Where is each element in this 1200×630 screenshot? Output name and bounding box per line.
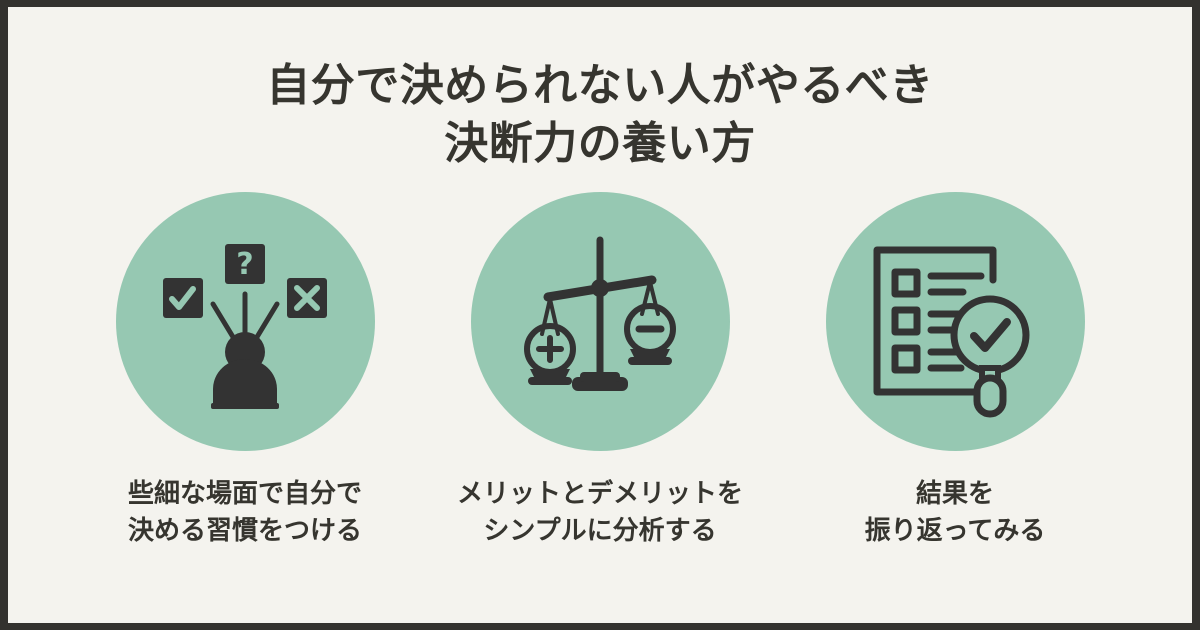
steps-row: ? (8, 192, 1192, 550)
step-3-caption-line-2: 振り返ってみる (865, 513, 1046, 550)
step-column-3: 結果を 振り返ってみる (778, 192, 1133, 550)
step-3-icon-circle (826, 192, 1085, 451)
step-2-caption-line-2: シンプルに分析する (457, 513, 743, 550)
decision-rays-icon (213, 294, 277, 337)
scale-base-icon (572, 372, 628, 391)
magnifying-glass-check-icon (954, 299, 1026, 414)
cross-mark-box-icon (287, 278, 327, 318)
step-2-icon-circle (471, 192, 730, 451)
step-1-icon-circle: ? (116, 192, 375, 451)
step-2-caption: メリットとデメリットを シンプルに分析する (457, 476, 743, 550)
person-silhouette-icon (211, 332, 279, 409)
step-1-caption: 些細な場面で自分で 決める習慣をつける (128, 476, 362, 550)
step-column-1: ? (68, 192, 423, 550)
check-mark-box-icon (163, 278, 203, 318)
step-1-caption-line-1: 些細な場面で自分で (128, 476, 362, 513)
page-title-line-1: 自分で決められない人がやるべき (8, 57, 1192, 115)
step-2-caption-line-1: メリットとデメリットを (457, 476, 743, 513)
page-title-line-2: 決断力の養い方 (8, 115, 1192, 173)
step-3-caption-line-1: 結果を (865, 476, 1046, 513)
balance-scale-icon (500, 222, 700, 422)
checklist-magnifier-icon (855, 222, 1055, 422)
svg-text:?: ? (236, 247, 253, 282)
minus-circle-icon (627, 306, 673, 365)
scale-pivot-icon (591, 279, 609, 297)
step-column-2: メリットとデメリットを シンプルに分析する (423, 192, 778, 550)
infographic-card: 自分で決められない人がやるべき 決断力の養い方 ? (8, 7, 1192, 623)
plus-circle-icon (527, 326, 573, 385)
page-title: 自分で決められない人がやるべき 決断力の養い方 (8, 57, 1192, 173)
question-mark-box-icon: ? (225, 244, 265, 284)
step-3-caption: 結果を 振り返ってみる (865, 476, 1046, 550)
step-1-caption-line-2: 決める習慣をつける (128, 513, 362, 550)
person-choices-icon: ? (145, 222, 345, 422)
